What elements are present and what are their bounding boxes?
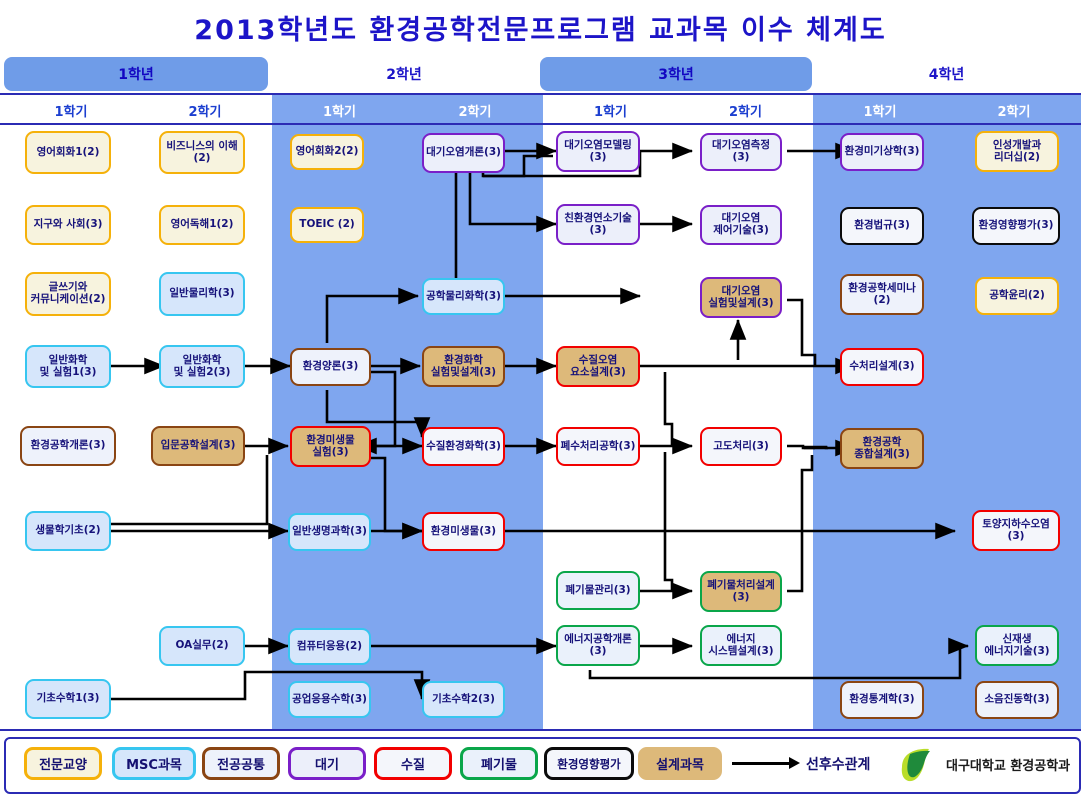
course-box[interactable]: 환경공학개론(3) <box>20 426 116 466</box>
course-box[interactable]: 환경화학실험및설계(3) <box>422 346 505 387</box>
course-box[interactable]: TOEIC (2) <box>290 207 364 243</box>
panel-year4-sem1 <box>813 95 947 730</box>
course-label: 일반생명과학(3) <box>292 526 367 538</box>
legend-arrow-line <box>732 762 790 765</box>
course-label: 대기오염개론(3) <box>426 147 501 159</box>
course-box[interactable]: 환경미기상학(3) <box>840 133 924 171</box>
course-box[interactable]: 글쓰기와커뮤니케이션(2) <box>25 272 111 316</box>
course-box[interactable]: 환경공학종합설계(3) <box>840 428 924 469</box>
legend-label: 환경영향평가 <box>557 756 620 772</box>
course-box[interactable]: 입문공학설계(3) <box>151 426 245 466</box>
course-box[interactable]: 공업응용수학(3) <box>288 681 371 718</box>
year-label: 2학년 <box>386 64 422 84</box>
legend-item-common[interactable]: 전공공통 <box>202 747 280 780</box>
course-box[interactable]: 폐기물처리설계(3) <box>700 571 782 612</box>
course-label: 환경공학종합설계(3) <box>854 437 910 461</box>
course-box[interactable]: 영어회화1(2) <box>25 131 111 174</box>
legend-item-gyoyang[interactable]: 전문교양 <box>24 747 102 780</box>
course-label: 폐수처리공학(3) <box>561 441 636 453</box>
course-label: 고도처리(3) <box>713 441 769 453</box>
legend-item-waste[interactable]: 폐기물 <box>460 747 538 780</box>
legend-label: 전공공통 <box>217 754 265 773</box>
course-label: 컴퓨터응용(2) <box>297 641 362 653</box>
course-box[interactable]: 대기오염측정(3) <box>700 133 782 171</box>
course-label: 토양지하수오염(3) <box>982 519 1050 543</box>
course-label: 수질환경화학(3) <box>426 441 501 453</box>
course-label: 기초수학2(3) <box>432 694 495 706</box>
year-band-2: 2학년 <box>272 57 536 91</box>
course-box[interactable]: 인성개발과리더십(2) <box>975 131 1059 172</box>
year-band-1: 1학년 <box>4 57 268 91</box>
course-label: 폐기물처리설계(3) <box>707 580 775 604</box>
course-box[interactable]: 생물학기초(2) <box>25 511 111 551</box>
course-box[interactable]: 수처리설계(3) <box>840 348 924 386</box>
divider-top <box>0 93 1081 95</box>
legend-item-design[interactable]: 설계과목 <box>638 747 722 780</box>
course-box[interactable]: 환경공학세미나(2) <box>840 274 924 315</box>
year-band-3: 3학년 <box>540 57 812 91</box>
course-box[interactable]: 대기오염제어기술(3) <box>700 205 782 245</box>
course-box[interactable]: OA실무(2) <box>159 626 245 666</box>
semester-label-2: 2학기 <box>138 97 272 123</box>
course-label: 환경미생물(3) <box>431 526 496 538</box>
course-box[interactable]: 일반물리학(3) <box>159 272 245 316</box>
course-box[interactable]: 친환경연소기술(3) <box>556 204 640 245</box>
legend-item-water[interactable]: 수질 <box>374 747 452 780</box>
panel-year2-sem2 <box>407 95 543 730</box>
course-label: 환경법규(3) <box>854 220 910 232</box>
course-box[interactable]: 컴퓨터응용(2) <box>288 628 371 665</box>
course-label: 환경영향평가(3) <box>979 220 1054 232</box>
course-label: 기초수학1(3) <box>37 693 100 705</box>
course-label: 환경미생물실험(3) <box>306 435 354 459</box>
course-box[interactable]: 일반화학및 실험2(3) <box>159 345 245 388</box>
course-label: 에너지시스템설계(3) <box>708 634 773 658</box>
legend-item-msc[interactable]: MSC과목 <box>112 747 196 780</box>
course-label: 신재생에너지기술(3) <box>984 634 1049 658</box>
year-label: 4학년 <box>929 64 965 84</box>
page-title: 2013학년도 환경공학전문프로그램 교과목 이수 체계도 <box>0 8 1081 47</box>
course-label: 에너지공학개론(3) <box>564 634 632 658</box>
course-label: 생물학기초(2) <box>35 525 100 537</box>
legend-label: 설계과목 <box>656 754 704 773</box>
course-box[interactable]: 폐수처리공학(3) <box>556 427 640 466</box>
semester-label-3: 1학기 <box>272 97 407 123</box>
course-label: 일반화학및 실험1(3) <box>40 355 97 379</box>
legend-bar: 전문교양 MSC과목 전공공통 대기 수질 폐기물 환경영향평가 설계과목 선후… <box>4 737 1081 794</box>
course-box[interactable]: 일반생명과학(3) <box>288 513 371 551</box>
course-label: 친환경연소기술(3) <box>564 213 632 237</box>
course-label: 영어회화1(2) <box>37 147 100 159</box>
course-box[interactable]: 기초수학2(3) <box>422 681 505 718</box>
legend-arrow-head <box>789 757 800 769</box>
course-box[interactable]: 공학윤리(2) <box>975 277 1059 315</box>
course-label: 공학물리화학(3) <box>426 291 501 303</box>
course-label: 대기오염제어기술(3) <box>713 213 769 237</box>
course-box[interactable]: 환경미생물(3) <box>422 512 505 551</box>
course-box[interactable]: 환경양론(3) <box>290 348 371 386</box>
university-logo-icon <box>896 747 936 785</box>
course-box[interactable]: 공학물리화학(3) <box>422 278 505 315</box>
course-box[interactable]: 일반화학및 실험1(3) <box>25 345 111 388</box>
course-box[interactable]: 환경통계학(3) <box>840 681 924 719</box>
course-label: 대기오염모델링(3) <box>564 140 632 164</box>
course-label: 공업응용수학(3) <box>292 694 367 706</box>
course-box[interactable]: 대기오염개론(3) <box>422 133 505 173</box>
course-label: TOEIC (2) <box>299 219 354 231</box>
course-box[interactable]: 수질오염요소설계(3) <box>556 346 640 387</box>
course-label: 환경양론(3) <box>303 361 359 373</box>
course-label: 수질오염요소설계(3) <box>570 355 626 379</box>
course-box[interactable]: 비즈니스의 이해(2) <box>159 131 245 174</box>
course-box[interactable]: 폐기물관리(3) <box>556 571 640 610</box>
course-label: 폐기물관리(3) <box>565 585 630 597</box>
course-box[interactable]: 환경법규(3) <box>840 207 924 245</box>
course-label: 환경공학세미나(2) <box>848 283 916 307</box>
course-box[interactable]: 에너지시스템설계(3) <box>700 625 782 666</box>
course-label: 지구와 사회(3) <box>34 219 103 231</box>
course-box[interactable]: 수질환경화학(3) <box>422 427 505 466</box>
course-label: 인성개발과리더십(2) <box>993 140 1041 164</box>
course-label: 소음진동학(3) <box>984 694 1049 706</box>
course-box[interactable]: 대기오염실험및설계(3) <box>700 277 782 318</box>
course-label: OA실무(2) <box>176 640 229 652</box>
curriculum-flowchart: 2013학년도 환경공학전문프로그램 교과목 이수 체계도 1학년 2학년 3학… <box>0 0 1081 794</box>
year-label: 1학년 <box>118 64 154 84</box>
divider-mid <box>0 123 1081 125</box>
course-label: 환경통계학(3) <box>849 694 914 706</box>
course-box[interactable]: 토양지하수오염(3) <box>972 510 1060 551</box>
legend-item-eia[interactable]: 환경영향평가 <box>544 747 634 780</box>
course-label: 환경공학개론(3) <box>31 440 106 452</box>
course-box[interactable]: 대기오염모델링(3) <box>556 131 640 172</box>
course-label: 영어회화2(2) <box>296 146 359 158</box>
course-label: 수처리설계(3) <box>849 361 914 373</box>
course-label: 비즈니스의 이해(2) <box>166 141 237 165</box>
course-box[interactable]: 신재생에너지기술(3) <box>975 625 1059 666</box>
course-box[interactable]: 영어회화2(2) <box>290 134 364 170</box>
year-band-4: 4학년 <box>816 57 1077 91</box>
legend-label: 대기 <box>315 754 339 773</box>
course-label: 입문공학설계(3) <box>161 440 236 452</box>
course-label: 대기오염실험및설계(3) <box>708 286 773 310</box>
course-box[interactable]: 지구와 사회(3) <box>25 205 111 245</box>
semester-label-8: 2학기 <box>947 97 1081 123</box>
course-label: 일반화학및 실험2(3) <box>174 355 231 379</box>
course-label: 글쓰기와커뮤니케이션(2) <box>31 282 106 306</box>
course-label: 일반물리학(3) <box>169 288 234 300</box>
semester-label-7: 1학기 <box>813 97 947 123</box>
semester-label-4: 2학기 <box>407 97 543 123</box>
year-label: 3학년 <box>658 64 694 84</box>
course-label: 환경화학실험및설계(3) <box>431 355 496 379</box>
course-box[interactable]: 기초수학1(3) <box>25 679 111 719</box>
course-label: 영어독해1(2) <box>171 219 234 231</box>
course-box[interactable]: 에너지공학개론(3) <box>556 625 640 666</box>
divider-bottom <box>0 729 1081 731</box>
legend-label: 수질 <box>401 754 425 773</box>
course-label: 공학윤리(2) <box>989 290 1045 302</box>
semester-label-1: 1학기 <box>4 97 138 123</box>
legend-relation-label: 선후수관계 <box>806 754 870 774</box>
legend-label: 전문교양 <box>39 754 87 773</box>
legend-item-air[interactable]: 대기 <box>288 747 366 780</box>
course-box[interactable]: 환경영향평가(3) <box>972 207 1060 245</box>
semester-label-5: 1학기 <box>543 97 678 123</box>
course-box[interactable]: 환경미생물실험(3) <box>290 426 371 467</box>
legend-label: 폐기물 <box>481 754 517 773</box>
course-label: 환경미기상학(3) <box>845 146 920 158</box>
course-box[interactable]: 고도처리(3) <box>700 427 782 466</box>
university-label: 대구대학교 환경공학과 <box>946 755 1070 774</box>
course-label: 대기오염측정(3) <box>704 140 778 164</box>
course-box[interactable]: 영어독해1(2) <box>159 205 245 245</box>
semester-label-6: 2학기 <box>678 97 813 123</box>
course-box[interactable]: 소음진동학(3) <box>975 681 1059 719</box>
legend-label: MSC과목 <box>126 754 182 773</box>
